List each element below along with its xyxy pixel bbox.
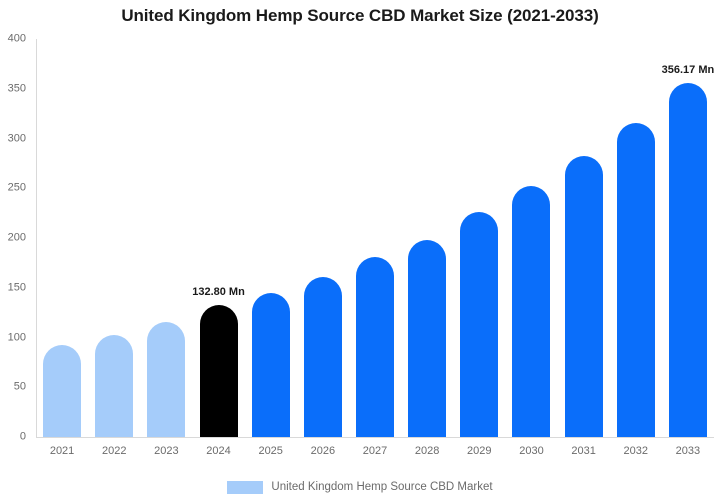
x-axis-line: [36, 437, 714, 438]
x-axis-tick-label: 2024: [206, 443, 230, 459]
bar-2023[interactable]: [147, 322, 185, 437]
x-axis-tick-label: 2032: [624, 443, 648, 459]
x-axis-tick-label: 2023: [154, 443, 178, 459]
legend-label[interactable]: United Kingdom Hemp Source CBD Market: [271, 482, 492, 494]
x-axis-tick-label: 2021: [50, 443, 74, 459]
bar-slot: [565, 39, 603, 437]
bar-2022[interactable]: [95, 335, 133, 437]
y-axis-tick-label: 0: [0, 432, 26, 443]
bar-2024[interactable]: [200, 305, 238, 437]
x-axis-tick-label: 2029: [467, 443, 491, 459]
x-axis-tick-label: 2027: [363, 443, 387, 459]
x-axis-tick-label: 2033: [676, 443, 700, 459]
legend-swatch: [227, 481, 263, 494]
bar-2025[interactable]: [252, 293, 290, 437]
bar-slot: [408, 39, 446, 437]
x-axis-tick-label: 2028: [415, 443, 439, 459]
x-axis-tick-label: 2031: [571, 443, 595, 459]
chart-container: United Kingdom Hemp Source CBD Market Si…: [0, 0, 720, 500]
y-axis-tick-label: 300: [0, 133, 26, 144]
bar-2031[interactable]: [565, 156, 603, 437]
bar-2032[interactable]: [617, 123, 655, 437]
bar-slot: [304, 39, 342, 437]
bar-2030[interactable]: [512, 186, 550, 437]
bar-slot: [356, 39, 394, 437]
chart-title: United Kingdom Hemp Source CBD Market Si…: [0, 6, 720, 26]
bar-slot: [460, 39, 498, 437]
x-axis-tick-label: 2026: [311, 443, 335, 459]
bar-value-label: 132.80 Mn: [192, 286, 245, 298]
chart-legend: United Kingdom Hemp Source CBD Market: [0, 481, 720, 494]
x-axis-tick-label: 2022: [102, 443, 126, 459]
y-axis-tick-label: 100: [0, 332, 26, 343]
bar-slot: [252, 39, 290, 437]
x-axis-tick-label: 2025: [258, 443, 282, 459]
bar-2029[interactable]: [460, 212, 498, 437]
bar-slot: [43, 39, 81, 437]
x-axis-labels: 2021202220232024202520262027202820292030…: [36, 443, 714, 463]
y-axis-tick-label: 150: [0, 282, 26, 293]
bar-slot: 132.80 Mn: [200, 39, 238, 437]
bar-slot: [95, 39, 133, 437]
y-axis-tick-label: 350: [0, 83, 26, 94]
bar-slot: [147, 39, 185, 437]
bar-2033[interactable]: [669, 83, 707, 437]
y-axis-tick-label: 50: [0, 382, 26, 393]
bar-2027[interactable]: [356, 257, 394, 437]
bar-slot: [617, 39, 655, 437]
bar-slot: [512, 39, 550, 437]
bar-2021[interactable]: [43, 345, 81, 437]
y-axis-labels: 050100150200250300350400: [0, 0, 32, 500]
y-axis-tick-label: 200: [0, 233, 26, 244]
bars-layer: 132.80 Mn356.17 Mn: [36, 39, 714, 437]
y-axis-tick-label: 400: [0, 34, 26, 45]
bar-slot: 356.17 Mn: [669, 39, 707, 437]
x-axis-tick-label: 2030: [519, 443, 543, 459]
bar-value-label: 356.17 Mn: [662, 64, 715, 76]
bar-2028[interactable]: [408, 240, 446, 437]
bar-2026[interactable]: [304, 277, 342, 437]
y-axis-tick-label: 250: [0, 183, 26, 194]
